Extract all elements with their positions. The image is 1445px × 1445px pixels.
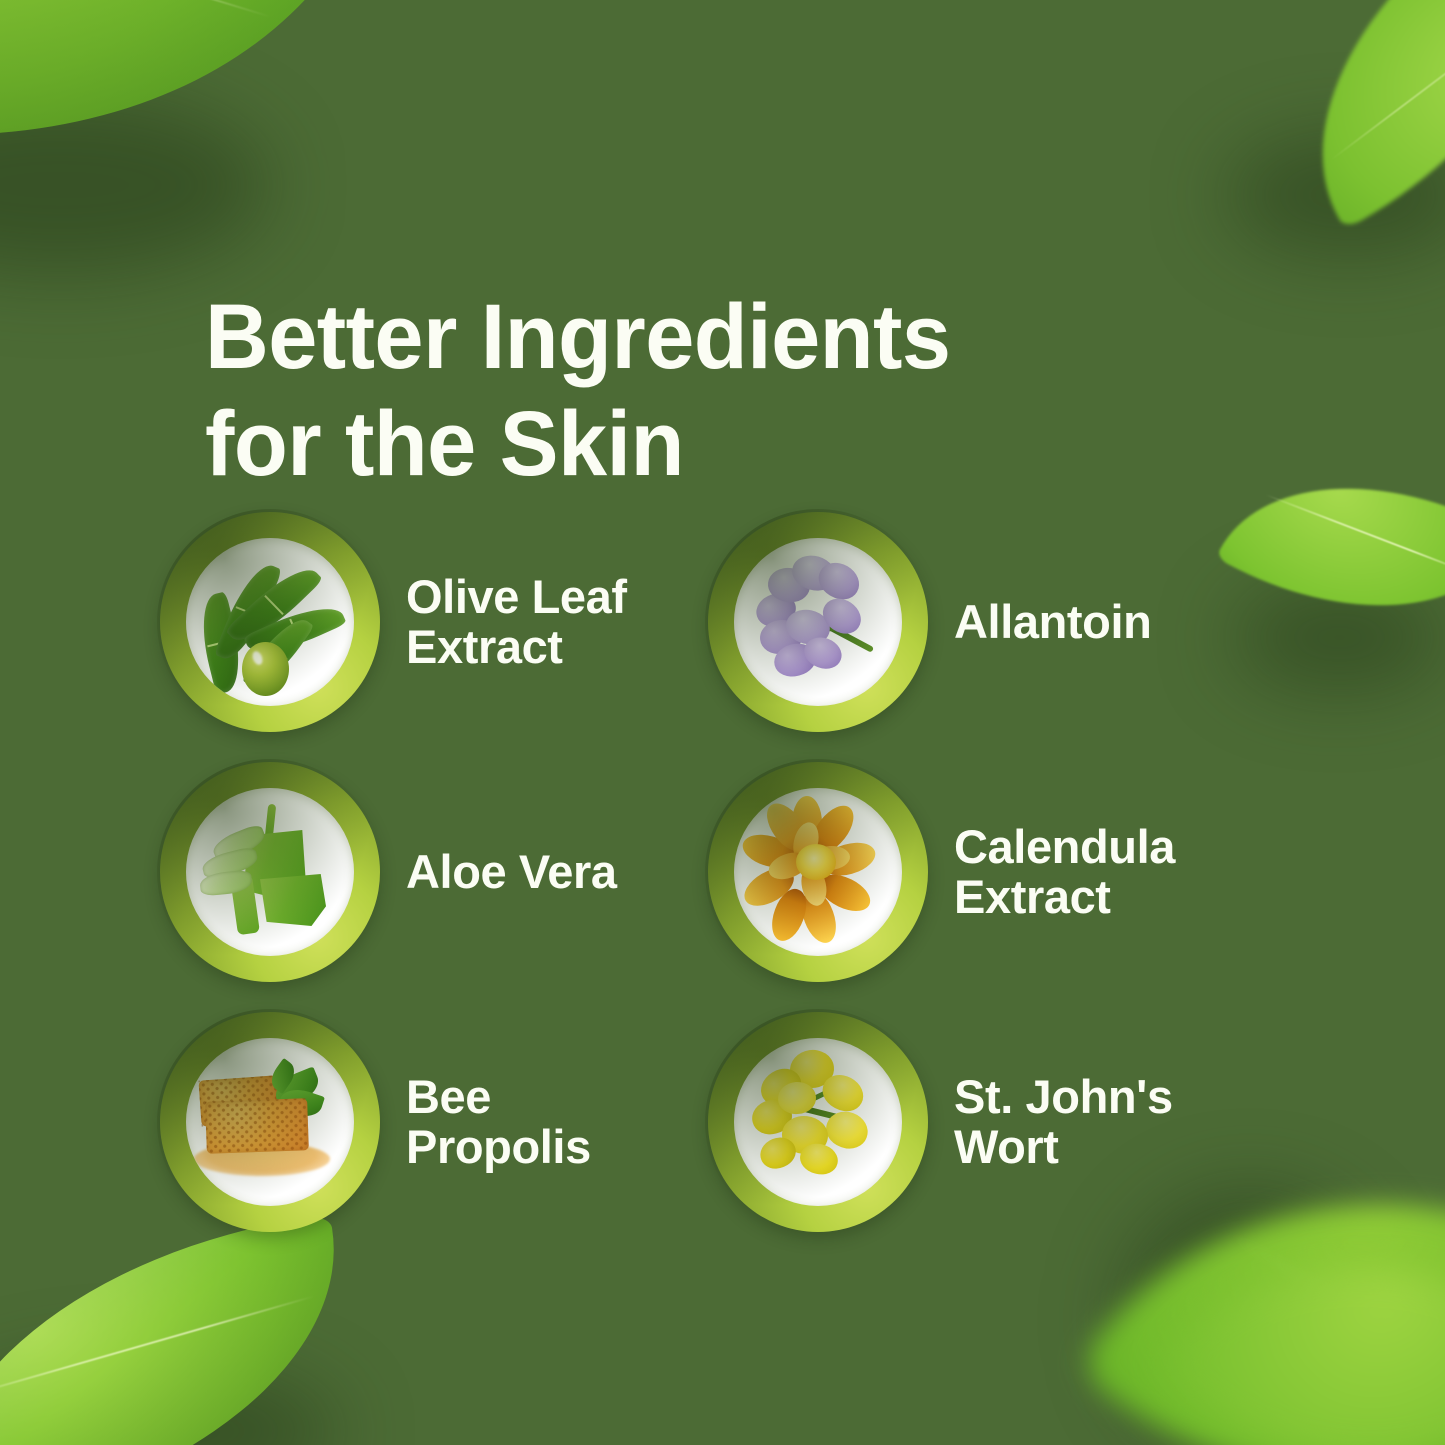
ingredient-label-line-1: St. John's [954,1070,1173,1123]
ingredient-label-line-1: Olive Leaf [406,570,627,623]
ingredients-poster: Better Ingredientsfor the Skin Olive Lea… [0,0,1445,1445]
ingredient-badge [160,762,380,982]
ingredient-badge [708,512,928,732]
ingredient-image-disc [186,538,354,706]
leaf-vein [0,1295,314,1401]
honeycomb-with-mint-icon [186,1038,354,1206]
ingredient-label: Allantoin [954,597,1151,647]
ingredient-label-line-1: Allantoin [954,595,1151,648]
ingredient-label-line-2: Extract [406,620,563,673]
leaf-top-left [0,0,378,312]
ingredient-label: BeePropolis [406,1072,591,1172]
comfrey-purple-flower-icon [734,538,902,706]
aloe-vera-leaf-icon [186,788,354,956]
leaf-vein [1330,0,1445,161]
ingredient-image-disc [186,1038,354,1206]
ingredient-label-line-1: Bee [406,1070,491,1123]
ingredient-image-disc [734,538,902,706]
ingredient-label: CalendulaExtract [954,822,1175,922]
leaf-bottom-left-shadow [0,1366,340,1445]
ingredient-item-calendula-extract: CalendulaExtract [708,762,1256,982]
ingredient-item-olive-leaf-extract: Olive LeafExtract [160,512,708,732]
ingredient-item-aloe-vera: Aloe Vera [160,762,708,982]
ingredient-label: Olive LeafExtract [406,572,627,672]
ingredient-label-line-1: Calendula [954,820,1175,873]
page-title-line-2: for the Skin [205,393,684,495]
ingredient-label-line-2: Extract [954,870,1111,923]
ingredient-item-bee-propolis: BeePropolis [160,1012,708,1232]
leaf-top-right [1243,0,1445,230]
ingredient-label-line-2: Propolis [406,1120,591,1173]
st-johns-wort-yellow-flower-icon [734,1038,902,1206]
page-title: Better Ingredientsfor the Skin [205,284,1107,499]
calendula-marigold-flower-icon [734,788,902,956]
leaf-shading [0,0,378,312]
leaf-bottom-left [0,1214,369,1445]
ingredient-label: St. John'sWort [954,1072,1173,1172]
ingredient-label: Aloe Vera [406,847,617,897]
page-title-line-1: Better Ingredients [205,286,950,388]
ingredient-label-line-2: Wort [954,1120,1059,1173]
leaf-blade [0,1214,369,1445]
leaf-vein [1216,1225,1445,1417]
ingredient-badge [708,762,928,982]
leaf-blade [0,0,378,312]
ingredient-image-disc [734,788,902,956]
ingredient-badge [160,512,380,732]
leaf-top-right-shadow [1225,135,1445,255]
leaf-blade [1243,0,1445,230]
ingredient-grid: Olive LeafExtract [160,512,1300,1232]
ingredient-image-disc [734,1038,902,1206]
ingredient-badge [708,1012,928,1232]
leaf-vein [0,0,272,18]
leaf-top-left-shadow [0,95,270,275]
olive-leaf-and-fruit-icon [186,538,354,706]
ingredient-badge [160,1012,380,1232]
ingredient-item-st-johns-wort: St. John'sWort [708,1012,1256,1232]
ingredient-label-line-1: Aloe Vera [406,845,617,898]
ingredient-image-disc [186,788,354,956]
leaf-shading [0,1214,369,1445]
ingredient-item-allantoin: Allantoin [708,512,1256,732]
